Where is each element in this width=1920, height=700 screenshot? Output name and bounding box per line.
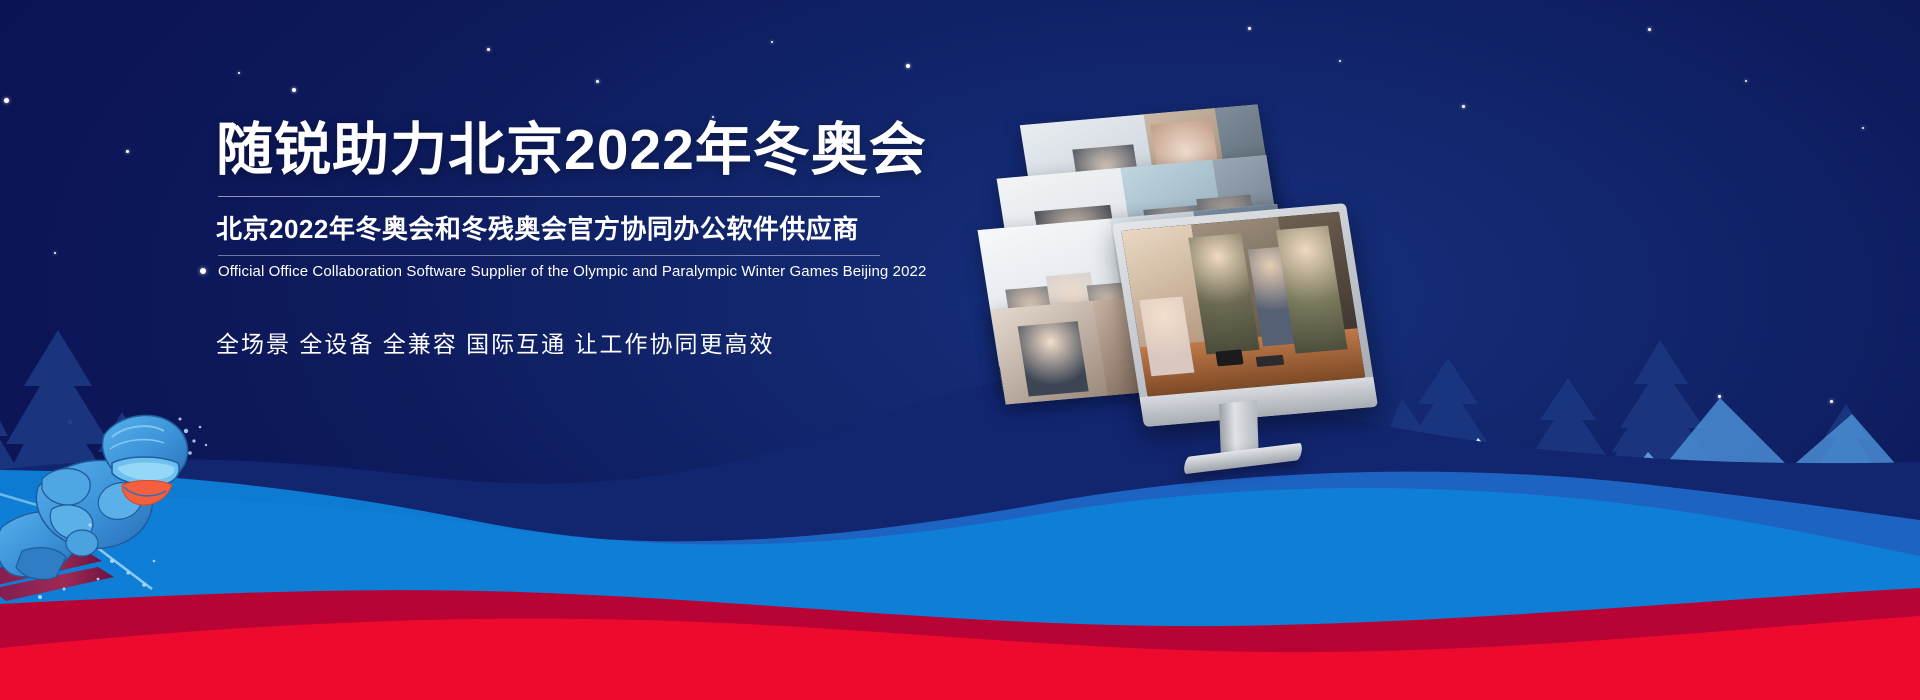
banner-copy: 随锐助力北京2022年冬奥会 北京2022年冬奥会和冬残奥会官方协同办公软件供应… bbox=[216, 120, 916, 359]
conference-phone bbox=[1216, 350, 1244, 367]
olympic-promo-banner: 随锐助力北京2022年冬奥会 北京2022年冬奥会和冬残奥会官方协同办公软件供应… bbox=[0, 0, 1920, 700]
participant-face bbox=[1018, 321, 1089, 396]
page-title: 随锐助力北京2022年冬奥会 bbox=[216, 120, 916, 182]
bullet-icon bbox=[200, 268, 206, 274]
subtitle-english: Official Office Collaboration Software S… bbox=[218, 263, 926, 280]
monitor-screen bbox=[1121, 212, 1365, 397]
subtitle-chinese: 北京2022年冬奥会和冬残奥会官方协同办公软件供应商 bbox=[216, 209, 916, 246]
divider-bottom bbox=[218, 255, 880, 256]
divider-top bbox=[218, 196, 880, 197]
skier-illustration bbox=[0, 375, 254, 605]
monitor-bezel bbox=[1112, 203, 1378, 427]
video-conference-monitor-cluster bbox=[990, 100, 1420, 480]
subtitle-english-row: Official Office Collaboration Software S… bbox=[200, 263, 916, 280]
tagline: 全场景 全设备 全兼容 国际互通 让工作协同更高效 bbox=[216, 325, 916, 359]
primary-monitor bbox=[1128, 212, 1376, 480]
